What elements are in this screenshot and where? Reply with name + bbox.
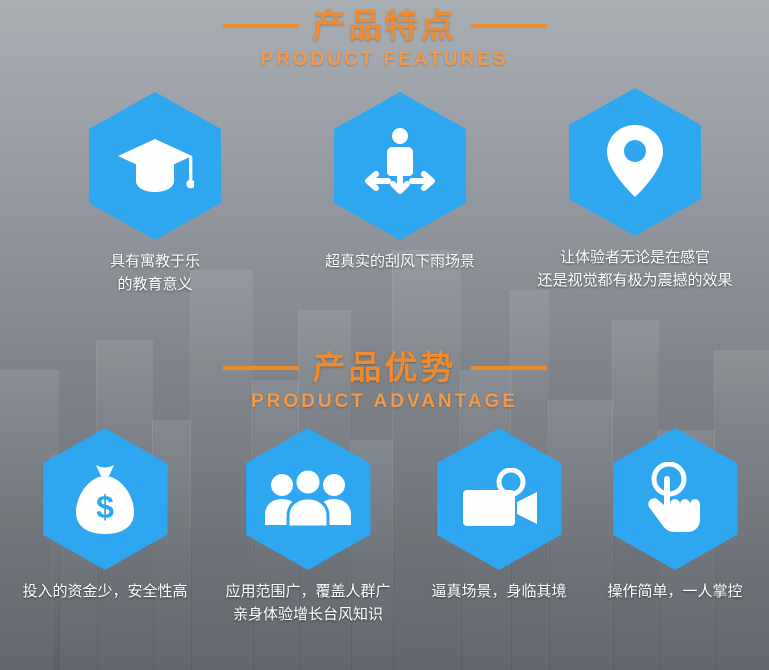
graduation-cap-icon (116, 135, 194, 197)
header-rule-left (223, 24, 299, 28)
section-title-en: PRODUCT FEATURES (0, 48, 769, 72)
feature-item-1: 超真实的刮风下雨场景 (305, 92, 495, 273)
section-title-cn: 产品优势 (313, 348, 457, 388)
people-group-icon (265, 470, 351, 528)
video-camera-icon (459, 468, 539, 530)
hex-tile: $ (43, 428, 168, 570)
person-wind-arrows-icon (362, 127, 438, 205)
feature-caption: 让体验者无论是在感官 还是视觉都有极为震撼的效果 (537, 246, 732, 292)
money-bag-icon: $ (72, 462, 138, 536)
section-title-cn: 产品特点 (313, 6, 457, 46)
feature-caption: 超真实的刮风下雨场景 (325, 250, 475, 273)
hex-tile (613, 428, 738, 570)
advantage-caption: 投入的资金少，安全性高 (22, 580, 187, 603)
hex-tile (246, 428, 371, 570)
header-rule-right (471, 24, 547, 28)
section-header-features: 产品特点 PRODUCT FEATURES (0, 6, 769, 72)
advantage-item-0: $ 投入的资金少，安全性高 (10, 428, 200, 603)
hex-tile (89, 92, 221, 240)
hex-tile (334, 92, 466, 240)
advantage-caption: 操作简单，一人掌控 (607, 580, 742, 603)
hex-tile (569, 88, 701, 236)
section-header-advantage: 产品优势 PRODUCT ADVANTAGE (0, 348, 769, 414)
header-rule-left (223, 366, 299, 370)
location-pin-icon (602, 123, 668, 201)
section-title-en: PRODUCT ADVANTAGE (0, 390, 769, 414)
feature-item-2: 让体验者无论是在感官 还是视觉都有极为震撼的效果 (520, 88, 750, 292)
feature-item-0: 具有寓教于乐 的教育意义 (60, 92, 250, 296)
svg-text:$: $ (96, 489, 114, 525)
poster-page: 产品特点 PRODUCT FEATURES 具有寓教于乐 的教育意义 (0, 0, 769, 670)
hand-click-icon (642, 462, 708, 536)
advantage-caption: 逼真场景，身临其境 (431, 580, 566, 603)
header-rule-right (471, 366, 547, 370)
advantage-item-2: 逼真场景，身临其境 (418, 428, 580, 603)
advantage-item-3: 操作简单，一人掌控 (590, 428, 760, 603)
advantage-item-1: 应用范围广，覆盖人群广 亲身体验增长台风知识 (208, 428, 408, 626)
advantage-caption: 应用范围广，覆盖人群广 亲身体验增长台风知识 (225, 580, 390, 626)
feature-caption: 具有寓教于乐 的教育意义 (110, 250, 200, 296)
hex-tile (437, 428, 562, 570)
